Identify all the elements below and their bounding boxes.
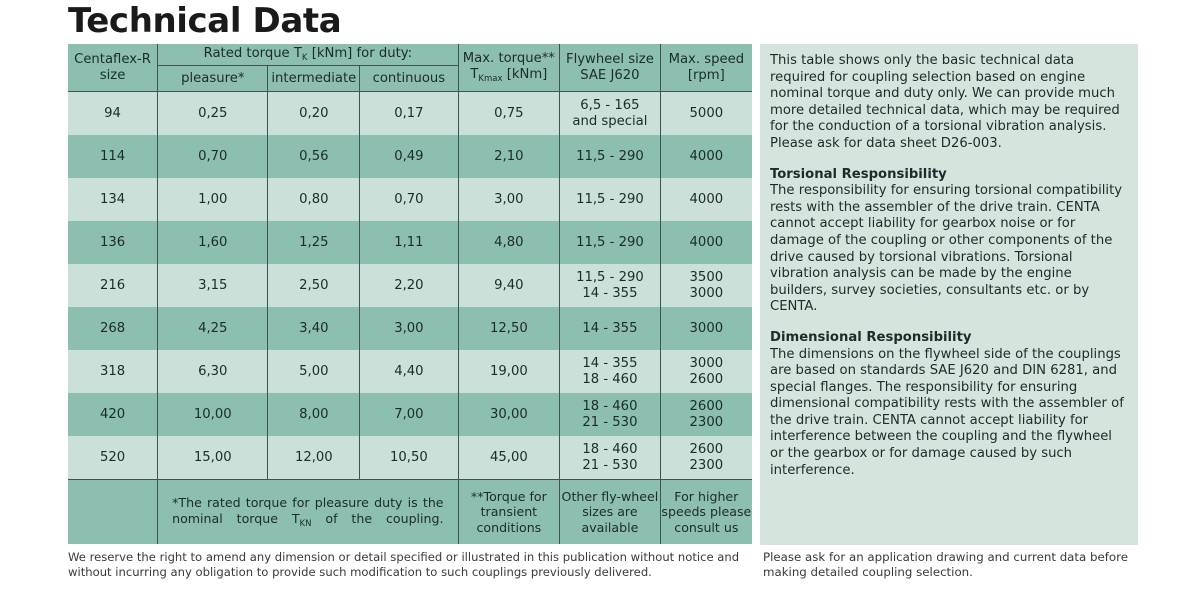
table-row: 52015,0012,0010,5045,0018 - 46021 - 5302… <box>68 436 752 480</box>
table-row: 3186,305,004,4019,0014 - 35518 - 4603000… <box>68 350 752 393</box>
cell-flywheel: 14 - 355 <box>560 307 661 350</box>
cell-flywheel-line: 11,5 - 290 <box>560 235 660 251</box>
cell-pleasure: 3,15 <box>158 264 268 307</box>
technical-data-page: Technical Data Centaflex-R size Rated to… <box>0 0 1188 607</box>
cell-intermediate-line: 0,80 <box>268 192 359 208</box>
table-row: 940,250,200,170,756,5 - 165and special50… <box>68 92 752 136</box>
table-row: 2684,253,403,0012,5014 - 3553000 <box>68 307 752 350</box>
cell-max-torque-line: 9,40 <box>459 278 560 294</box>
cell-intermediate-line: 1,25 <box>268 235 359 251</box>
cell-continuous-line: 0,17 <box>360 106 457 122</box>
cell-continuous: 2,20 <box>360 264 458 307</box>
cell-max-torque-line: 30,00 <box>459 407 560 423</box>
cell-speed-line: 3000 <box>661 356 752 372</box>
cell-speed: 35003000 <box>660 264 752 307</box>
cell-max-torque-line: 3,00 <box>459 192 560 208</box>
cell-continuous-line: 1,11 <box>360 235 457 251</box>
cell-size-line: 318 <box>68 364 157 380</box>
column-header-rated-torque-group: Rated torque TK [kNm] for duty: <box>158 44 458 66</box>
cell-pleasure: 1,60 <box>158 221 268 264</box>
column-header-size-line1: Centaflex-R <box>74 52 151 67</box>
cell-flywheel-line: 21 - 530 <box>560 458 660 474</box>
cell-speed: 3000 <box>660 307 752 350</box>
cell-max-torque: 2,10 <box>458 135 560 178</box>
cell-speed-line: 2300 <box>661 458 752 474</box>
cell-speed: 4000 <box>660 178 752 221</box>
torsional-responsibility-heading: Torsional Responsibility <box>770 167 1128 184</box>
cell-flywheel-line: 6,5 - 165 <box>560 98 660 114</box>
footer-note-rated-torque: *The rated torque for pleasure duty is t… <box>158 480 458 545</box>
cell-continuous: 4,40 <box>360 350 458 393</box>
cell-continuous: 0,17 <box>360 92 458 136</box>
cell-flywheel: 6,5 - 165and special <box>560 92 661 136</box>
cell-flywheel-line: 11,5 - 290 <box>560 192 660 208</box>
cell-speed-line: 2600 <box>661 442 752 458</box>
cell-flywheel-line: 11,5 - 290 <box>560 149 660 165</box>
cell-intermediate: 3,40 <box>268 307 360 350</box>
cell-pleasure: 0,25 <box>158 92 268 136</box>
cell-speed-line: 3500 <box>661 270 752 286</box>
cell-pleasure-line: 3,15 <box>158 278 267 294</box>
footer-empty-cell <box>68 480 158 545</box>
cell-max-torque: 4,80 <box>458 221 560 264</box>
cell-max-torque-line: 4,80 <box>459 235 560 251</box>
cell-continuous-line: 4,40 <box>360 364 457 380</box>
cell-speed-line: 2600 <box>661 399 752 415</box>
dimensional-responsibility-body: The dimensions on the flywheel side of t… <box>770 347 1128 480</box>
disclaimer-left: We reserve the right to amend any dimens… <box>68 550 758 579</box>
cell-intermediate: 0,56 <box>268 135 360 178</box>
cell-continuous: 3,00 <box>360 307 458 350</box>
cell-pleasure-line: 6,30 <box>158 364 267 380</box>
cell-flywheel-line: 14 - 355 <box>560 286 660 302</box>
technical-data-table: Centaflex-R size Rated torque TK [kNm] f… <box>68 44 752 544</box>
cell-max-torque-line: 12,50 <box>459 321 560 337</box>
cell-size: 268 <box>68 307 158 350</box>
cell-size-line: 94 <box>68 106 157 122</box>
side-intro-paragraph: This table shows only the basic technica… <box>770 53 1128 153</box>
cell-pleasure: 1,00 <box>158 178 268 221</box>
cell-continuous: 7,00 <box>360 393 458 436</box>
footer-note-flywheel: Other fly-wheel sizes are available <box>560 480 661 545</box>
cell-size: 114 <box>68 135 158 178</box>
cell-continuous: 0,49 <box>360 135 458 178</box>
side-info-panel: This table shows only the basic technica… <box>760 44 1138 545</box>
cell-flywheel: 11,5 - 29014 - 355 <box>560 264 661 307</box>
torsional-responsibility-body: The responsibility for ensuring torsiona… <box>770 183 1128 316</box>
cell-pleasure-line: 1,00 <box>158 192 267 208</box>
page-title: Technical Data <box>68 1 341 41</box>
technical-data-table-wrapper: Centaflex-R size Rated torque TK [kNm] f… <box>68 44 752 544</box>
table-header: Centaflex-R size Rated torque TK [kNm] f… <box>68 44 752 92</box>
cell-speed-line: 3000 <box>661 286 752 302</box>
cell-continuous: 10,50 <box>360 436 458 480</box>
cell-pleasure-line: 1,60 <box>158 235 267 251</box>
cell-size-line: 114 <box>68 149 157 165</box>
cell-max-torque-line: 19,00 <box>459 364 560 380</box>
cell-intermediate: 12,00 <box>268 436 360 480</box>
cell-size: 520 <box>68 436 158 480</box>
cell-size: 216 <box>68 264 158 307</box>
cell-pleasure-line: 0,70 <box>158 149 267 165</box>
cell-flywheel-line: 18 - 460 <box>560 442 660 458</box>
table-row: 42010,008,007,0030,0018 - 46021 - 530260… <box>68 393 752 436</box>
cell-size-line: 216 <box>68 278 157 294</box>
table-header-row-group: Centaflex-R size Rated torque TK [kNm] f… <box>68 44 752 66</box>
cell-flywheel-line: 14 - 355 <box>560 356 660 372</box>
dimensional-responsibility-heading: Dimensional Responsibility <box>770 330 1128 347</box>
cell-speed: 5000 <box>660 92 752 136</box>
cell-intermediate-line: 3,40 <box>268 321 359 337</box>
cell-pleasure: 6,30 <box>158 350 268 393</box>
table-row: 1361,601,251,114,8011,5 - 2904000 <box>68 221 752 264</box>
cell-size: 134 <box>68 178 158 221</box>
cell-pleasure-line: 0,25 <box>158 106 267 122</box>
cell-intermediate: 1,25 <box>268 221 360 264</box>
cell-max-torque: 12,50 <box>458 307 560 350</box>
cell-intermediate-line: 0,56 <box>268 149 359 165</box>
cell-pleasure-line: 4,25 <box>158 321 267 337</box>
cell-continuous: 0,70 <box>360 178 458 221</box>
cell-speed-line: 5000 <box>661 106 752 122</box>
cell-size: 94 <box>68 92 158 136</box>
cell-continuous-line: 0,49 <box>360 149 457 165</box>
max-torque-line1: Max. torque** <box>463 51 555 66</box>
cell-flywheel-line: and special <box>560 114 660 130</box>
cell-flywheel-line: 21 - 530 <box>560 415 660 431</box>
cell-max-torque-line: 2,10 <box>459 149 560 165</box>
cell-pleasure: 15,00 <box>158 436 268 480</box>
column-header-intermediate: intermediate <box>268 66 360 92</box>
cell-intermediate: 2,50 <box>268 264 360 307</box>
column-header-pleasure: pleasure* <box>158 66 268 92</box>
cell-flywheel: 14 - 35518 - 460 <box>560 350 661 393</box>
cell-size: 420 <box>68 393 158 436</box>
cell-size-line: 420 <box>68 407 157 423</box>
cell-flywheel: 11,5 - 290 <box>560 135 661 178</box>
cell-intermediate: 5,00 <box>268 350 360 393</box>
cell-flywheel-line: 18 - 460 <box>560 372 660 388</box>
cell-max-torque: 3,00 <box>458 178 560 221</box>
cell-size: 318 <box>68 350 158 393</box>
cell-size-line: 136 <box>68 235 157 251</box>
cell-pleasure-line: 10,00 <box>158 407 267 423</box>
table-row: 1140,700,560,492,1011,5 - 2904000 <box>68 135 752 178</box>
disclaimer-right: Please ask for an application drawing an… <box>763 550 1143 579</box>
table-footer-row: *The rated torque for pleasure duty is t… <box>68 480 752 545</box>
table-row: 2163,152,502,209,4011,5 - 29014 - 355350… <box>68 264 752 307</box>
cell-max-torque-line: 45,00 <box>459 450 560 466</box>
cell-pleasure-line: 15,00 <box>158 450 267 466</box>
table-body: 940,250,200,170,756,5 - 165and special50… <box>68 92 752 480</box>
cell-intermediate: 0,20 <box>268 92 360 136</box>
cell-intermediate-line: 0,20 <box>268 106 359 122</box>
cell-speed: 4000 <box>660 221 752 264</box>
cell-continuous-line: 3,00 <box>360 321 457 337</box>
cell-pleasure: 4,25 <box>158 307 268 350</box>
column-header-size: Centaflex-R size <box>68 44 158 92</box>
footer-note-speed: For higher speeds please consult us <box>660 480 752 545</box>
footer-note-max-torque: **Torque for transient conditions <box>458 480 560 545</box>
column-header-size-line2: size <box>100 68 126 83</box>
cell-flywheel: 11,5 - 290 <box>560 221 661 264</box>
cell-continuous-line: 2,20 <box>360 278 457 294</box>
cell-size-line: 134 <box>68 192 157 208</box>
cell-size-line: 520 <box>68 450 157 466</box>
table-row: 1341,000,800,703,0011,5 - 2904000 <box>68 178 752 221</box>
cell-speed: 4000 <box>660 135 752 178</box>
cell-pleasure: 10,00 <box>158 393 268 436</box>
cell-intermediate: 0,80 <box>268 178 360 221</box>
cell-speed: 26002300 <box>660 393 752 436</box>
cell-continuous: 1,11 <box>360 221 458 264</box>
cell-max-torque: 9,40 <box>458 264 560 307</box>
cell-speed: 26002300 <box>660 436 752 480</box>
cell-speed-line: 2300 <box>661 415 752 431</box>
cell-max-torque-line: 0,75 <box>459 106 560 122</box>
cell-pleasure: 0,70 <box>158 135 268 178</box>
cell-flywheel-line: 18 - 460 <box>560 399 660 415</box>
cell-continuous-line: 7,00 <box>360 407 457 423</box>
cell-flywheel: 18 - 46021 - 530 <box>560 393 661 436</box>
cell-intermediate-line: 8,00 <box>268 407 359 423</box>
cell-size-line: 268 <box>68 321 157 337</box>
cell-continuous-line: 0,70 <box>360 192 457 208</box>
cell-intermediate: 8,00 <box>268 393 360 436</box>
cell-flywheel-line: 11,5 - 290 <box>560 270 660 286</box>
cell-max-torque: 19,00 <box>458 350 560 393</box>
cell-speed-line: 4000 <box>661 149 752 165</box>
cell-size: 136 <box>68 221 158 264</box>
cell-speed-line: 2600 <box>661 372 752 388</box>
column-header-max-speed: Max. speed [rpm] <box>660 44 752 92</box>
cell-speed-line: 4000 <box>661 235 752 251</box>
cell-max-torque: 0,75 <box>458 92 560 136</box>
cell-max-torque: 30,00 <box>458 393 560 436</box>
cell-intermediate-line: 12,00 <box>268 450 359 466</box>
table-footer: *The rated torque for pleasure duty is t… <box>68 480 752 545</box>
cell-flywheel-line: 14 - 355 <box>560 321 660 337</box>
column-header-continuous: continuous <box>360 66 458 92</box>
cell-intermediate-line: 5,00 <box>268 364 359 380</box>
column-header-flywheel-size: Flywheel size SAE J620 <box>560 44 661 92</box>
cell-speed-line: 3000 <box>661 321 752 337</box>
cell-flywheel: 18 - 46021 - 530 <box>560 436 661 480</box>
cell-speed-line: 4000 <box>661 192 752 208</box>
cell-max-torque: 45,00 <box>458 436 560 480</box>
cell-intermediate-line: 2,50 <box>268 278 359 294</box>
column-header-max-torque: Max. torque** TKmax [kNm] <box>458 44 560 92</box>
cell-continuous-line: 10,50 <box>360 450 457 466</box>
cell-flywheel: 11,5 - 290 <box>560 178 661 221</box>
cell-speed: 30002600 <box>660 350 752 393</box>
